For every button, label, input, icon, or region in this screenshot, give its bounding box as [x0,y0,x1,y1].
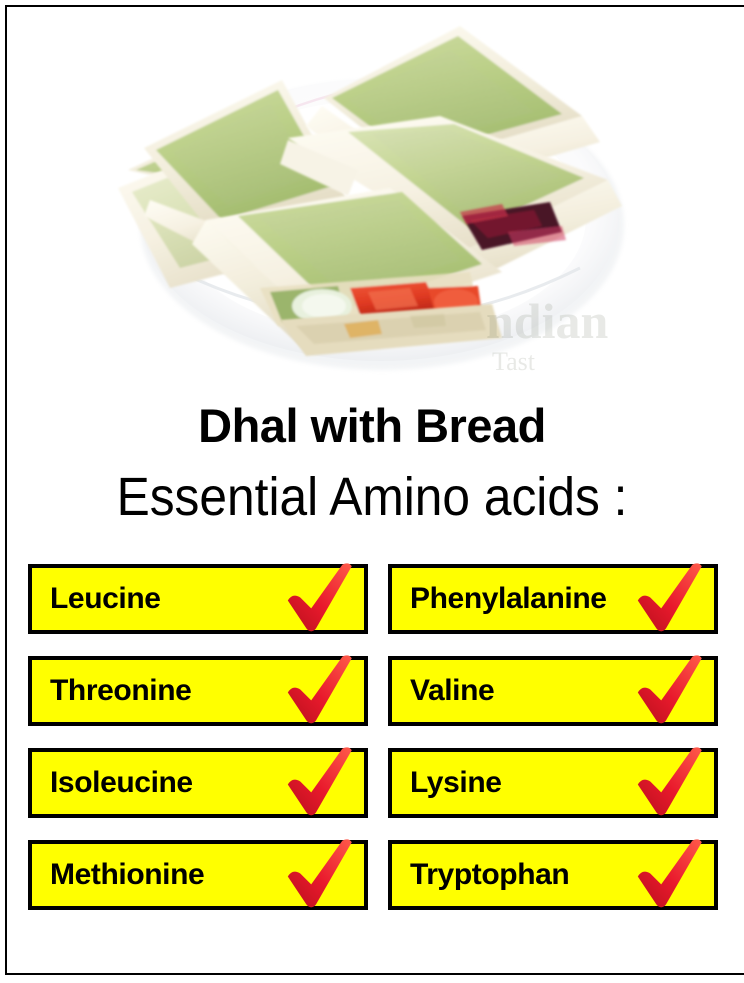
check-icon [280,652,358,730]
amino-acid-row: Threonine Valine [28,656,718,726]
amino-acid-label: Valine [392,674,494,708]
photo-watermark: ndian Tast [486,293,609,376]
amino-acid-item-methionine[interactable]: Methionine [28,840,368,910]
page-subtitle: Essential Amino acids : [30,466,714,528]
amino-acid-row: Leucine Phenylalanine [28,564,718,634]
amino-acid-label: Tryptophan [392,858,569,892]
amino-acid-item-leucine[interactable]: Leucine [28,564,368,634]
amino-acid-row: Methionine Tryptophan [28,840,718,910]
essential-amino-acid-list: Leucine Phenylalanine [28,564,718,910]
amino-acid-item-lysine[interactable]: Lysine [388,748,718,818]
amino-acid-row: Isoleucine Lysine [28,748,718,818]
amino-acid-label: Phenylalanine [392,582,607,616]
check-icon [630,836,708,914]
check-icon [280,744,358,822]
check-icon [280,560,358,638]
svg-text:Tast: Tast [492,347,536,376]
poster-page: ndian Tast Dhal with Bread Essential Ami… [0,0,744,983]
check-icon [280,836,358,914]
amino-acid-label: Methionine [32,858,204,892]
amino-acid-item-valine[interactable]: Valine [388,656,718,726]
amino-acid-item-phenylalanine[interactable]: Phenylalanine [388,564,718,634]
amino-acid-item-tryptophan[interactable]: Tryptophan [388,840,718,910]
dhal-with-bread-photo: ndian Tast [110,20,650,380]
amino-acid-item-isoleucine[interactable]: Isoleucine [28,748,368,818]
amino-acid-label: Isoleucine [32,766,193,800]
check-icon [630,560,708,638]
amino-acid-item-threonine[interactable]: Threonine [28,656,368,726]
check-icon [630,744,708,822]
amino-acid-label: Lysine [392,766,502,800]
amino-acid-label: Threonine [32,674,191,708]
check-icon [630,652,708,730]
page-title: Dhal with Bread [0,398,744,453]
svg-text:ndian: ndian [486,293,609,349]
amino-acid-label: Leucine [32,582,161,616]
